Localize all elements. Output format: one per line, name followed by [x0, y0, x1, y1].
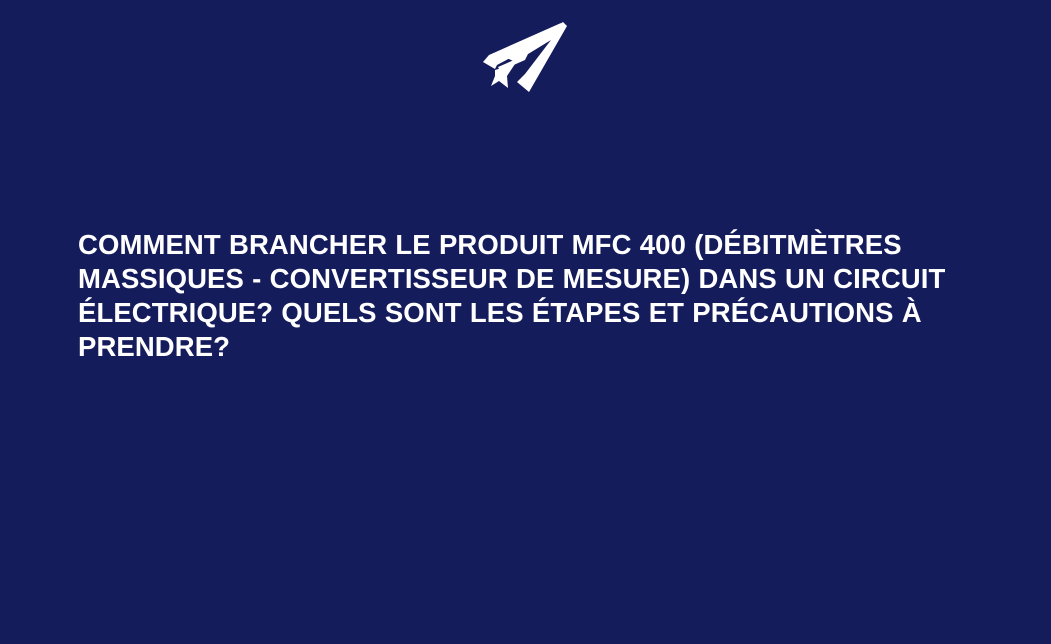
page-root: Comment brancher le produit MFC 400 (déb… — [0, 0, 1051, 644]
headline-block: Comment brancher le produit MFC 400 (déb… — [78, 228, 978, 364]
paper-plane-icon — [481, 18, 571, 98]
logo-container — [0, 16, 1051, 100]
page-title: Comment brancher le produit MFC 400 (déb… — [78, 228, 978, 364]
